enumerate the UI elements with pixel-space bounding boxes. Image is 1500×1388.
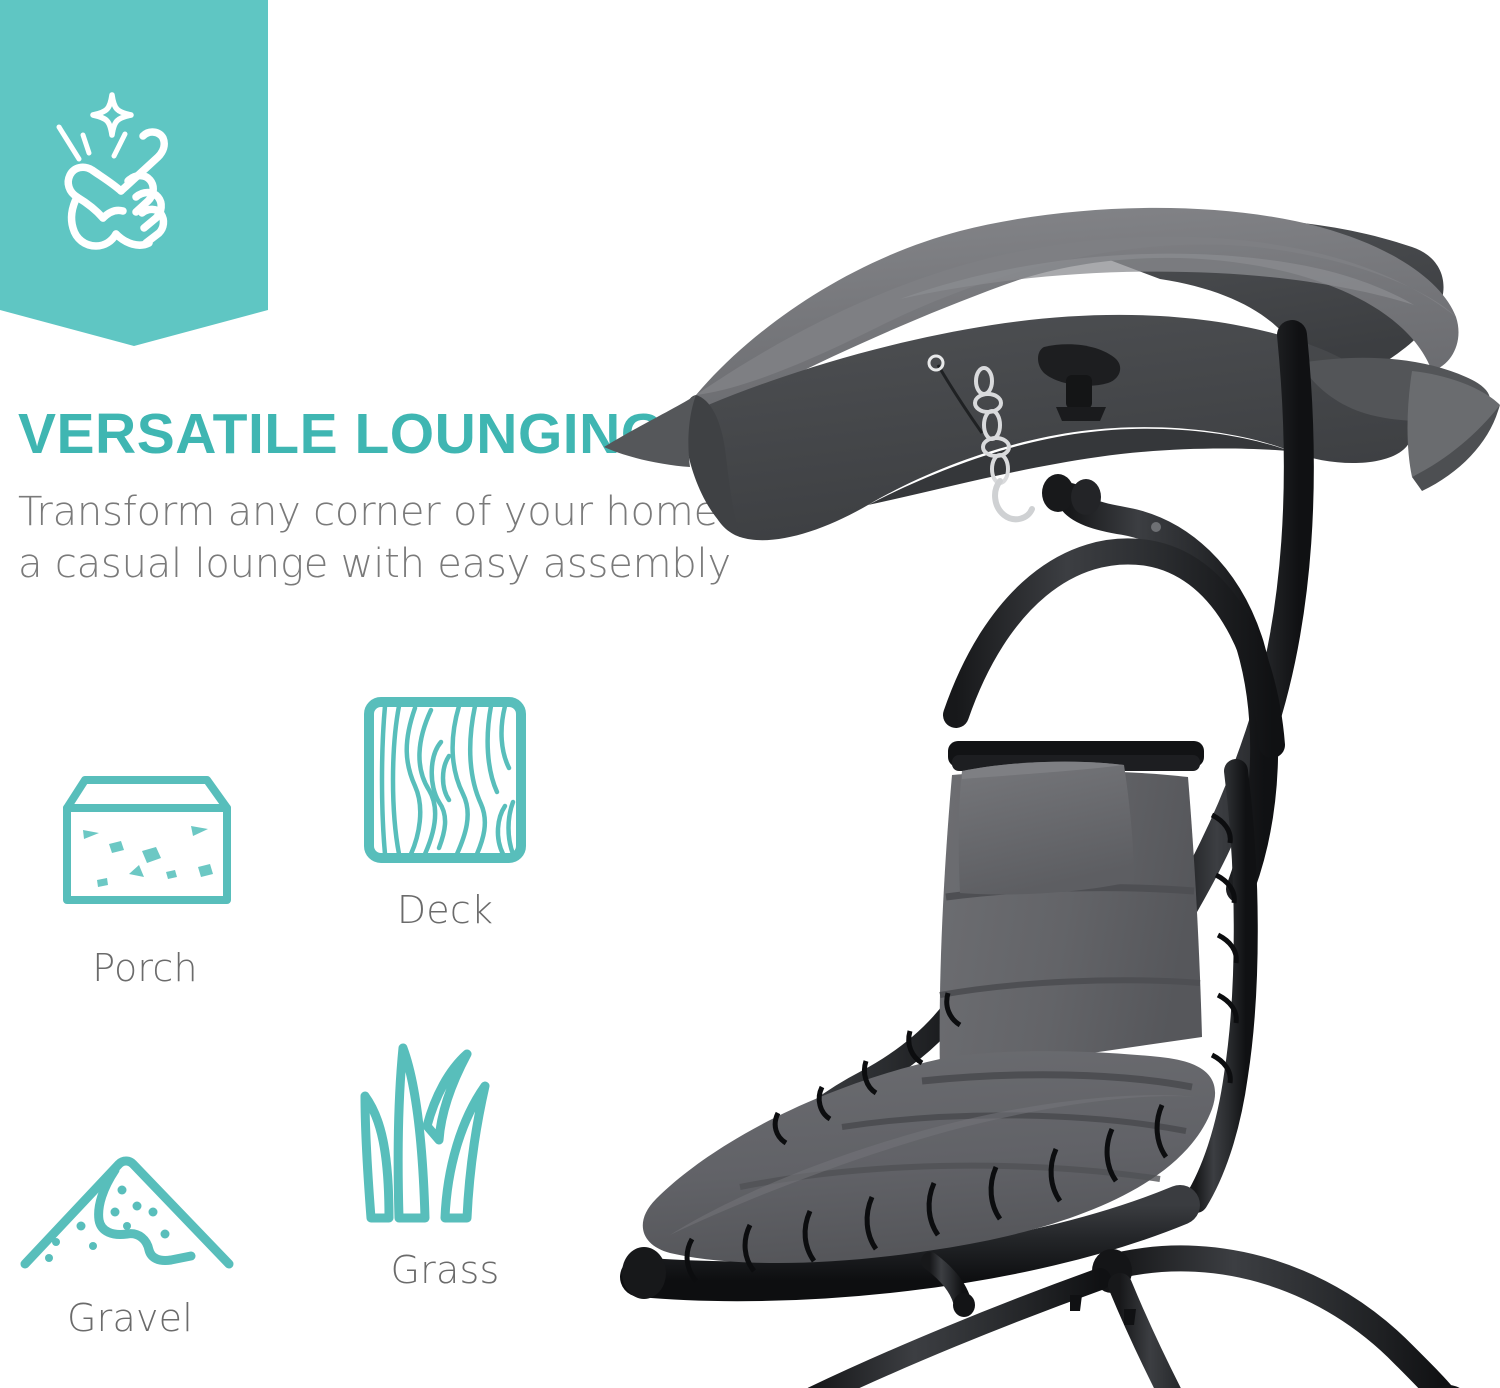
product-feature-panel: VERSATILE LOUNGING Transform any corner … <box>0 0 1500 1388</box>
headrest-pillow <box>959 762 1134 895</box>
surface-label: Porch <box>0 946 290 990</box>
surface-label: Grass <box>300 1248 590 1292</box>
concrete-slab-icon <box>0 718 290 928</box>
surface-item-porch: Porch <box>0 718 290 990</box>
surface-item-gravel: Gravel <box>0 1068 275 1340</box>
product-image-hanging-chaise-lounge <box>600 175 1500 1388</box>
surface-compatibility-grid: Porch <box>0 660 620 1380</box>
finger-snap-icon <box>46 78 222 268</box>
surface-label: Deck <box>300 888 590 932</box>
gravel-pile-icon <box>0 1068 275 1278</box>
feature-badge-ribbon <box>0 0 268 346</box>
surface-item-grass: Grass <box>300 1020 590 1292</box>
surface-item-deck: Deck <box>300 660 590 932</box>
grass-blades-icon <box>300 1020 590 1230</box>
surface-label: Gravel <box>0 1296 275 1340</box>
wood-grain-icon <box>300 660 590 870</box>
